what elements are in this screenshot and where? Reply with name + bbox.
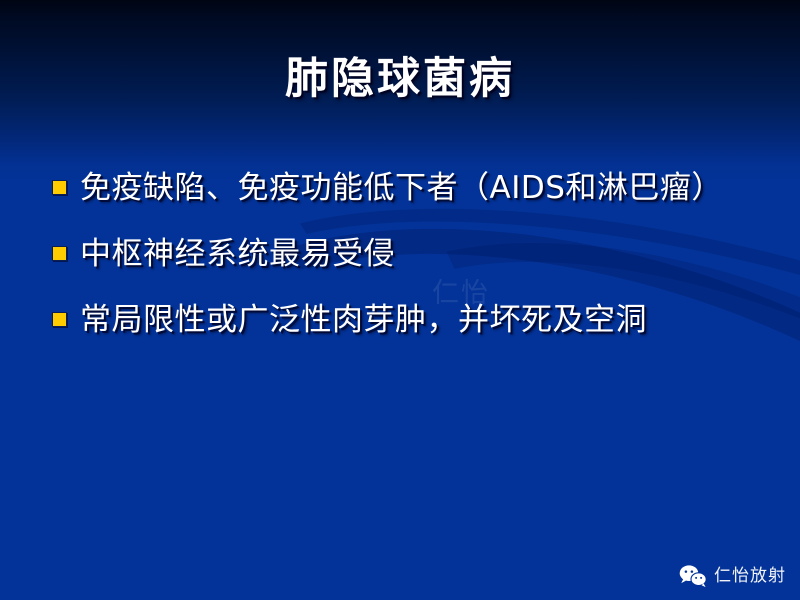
presentation-slide: 仁怡 肺隐球菌病 免疫缺陷、免疫功能低下者（AIDS和淋巴瘤） 中枢神经系统最易… [0,0,800,600]
bullet-item: 免疫缺陷、免疫功能低下者（AIDS和淋巴瘤） [52,166,762,210]
slide-title: 肺隐球菌病 [0,52,800,106]
bullet-list: 免疫缺陷、免疫功能低下者（AIDS和淋巴瘤） 中枢神经系统最易受侵 常局限性或广… [52,166,762,364]
bullet-item: 中枢神经系统最易受侵 [52,232,762,276]
bullet-item-text: 免疫缺陷、免疫功能低下者（AIDS和淋巴瘤） [80,166,762,210]
bullet-item: 常局限性或广泛性肉芽肿，并坏死及空洞 [52,298,762,342]
square-bullet-icon [52,180,67,195]
bullet-item-text: 中枢神经系统最易受侵 [80,232,762,276]
wechat-icon [679,564,707,588]
square-bullet-icon [52,246,67,261]
wechat-account-label: 仁怡放射 [714,566,786,586]
wechat-watermark: 仁怡放射 [679,564,786,588]
square-bullet-icon [52,312,67,327]
bullet-item-text: 常局限性或广泛性肉芽肿，并坏死及空洞 [80,298,762,342]
